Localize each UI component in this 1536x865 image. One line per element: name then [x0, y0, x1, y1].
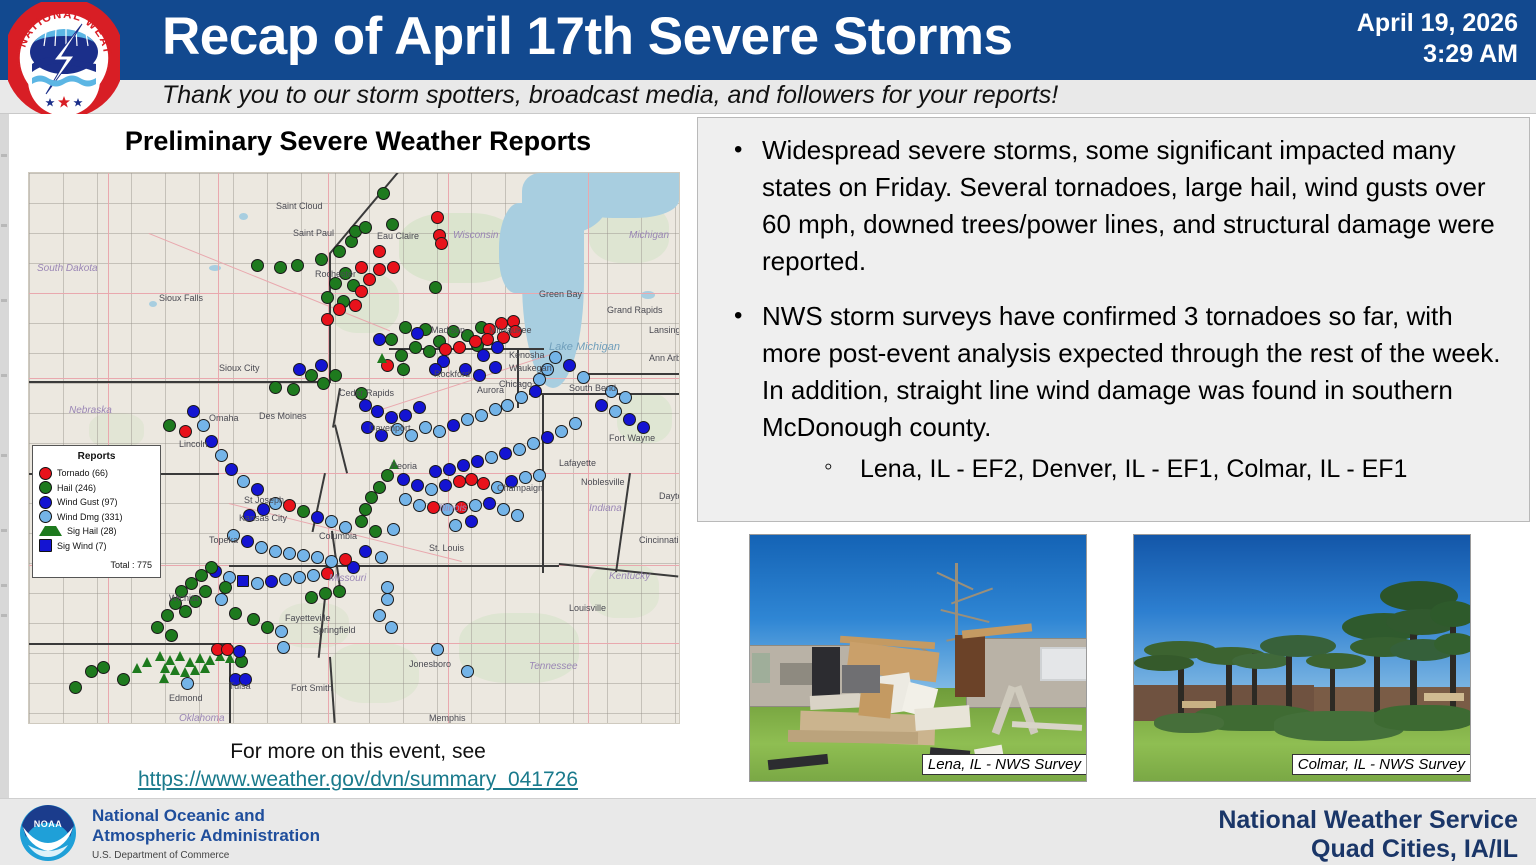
photo-caption: Lena, IL - NWS Survey: [922, 754, 1087, 775]
report-marker-wind-gust: [447, 419, 460, 432]
state-label: Kentucky: [609, 571, 650, 582]
report-marker-tornado: [355, 261, 368, 274]
state-label: Indiana: [589, 503, 622, 514]
city-label: Kansas City: [239, 513, 287, 523]
report-marker-sig-hail: [190, 665, 200, 675]
report-marker-hail: [377, 187, 390, 200]
city-label: Jonesboro: [409, 659, 451, 669]
report-marker-hail: [117, 673, 130, 686]
report-marker-hail: [291, 259, 304, 272]
report-marker-wind-gust: [541, 431, 554, 444]
report-marker-hail: [69, 681, 82, 694]
report-marker-wind-dmg: [569, 417, 582, 430]
state-label: Tennessee: [529, 661, 578, 672]
legend-swatch-circle-icon: [39, 467, 52, 480]
report-marker-wind-gust: [359, 545, 372, 558]
report-marker-tornado: [453, 341, 466, 354]
city-label: Fayetteville: [285, 613, 331, 623]
legend-label: Wind Dmg (331): [57, 512, 123, 522]
report-marker-tornado: [355, 285, 368, 298]
bullet-item: NWS storm surveys have confirmed 3 torna…: [732, 298, 1511, 486]
report-marker-hail: [369, 525, 382, 538]
report-marker-hail: [163, 419, 176, 432]
report-marker-wind-dmg: [485, 451, 498, 464]
report-marker-hail: [315, 253, 328, 266]
report-marker-tornado: [387, 261, 400, 274]
report-marker-hail: [247, 613, 260, 626]
report-marker-wind-dmg: [215, 449, 228, 462]
report-marker-wind-gust: [489, 361, 502, 374]
header-datetime: April 19, 2026 3:29 AM: [1118, 8, 1518, 70]
report-marker-wind-dmg: [433, 425, 446, 438]
report-marker-wind-dmg: [277, 641, 290, 654]
report-marker-wind-dmg: [375, 551, 388, 564]
report-marker-tornado: [477, 477, 490, 490]
report-marker-tornado: [221, 643, 234, 656]
header-date: April 19, 2026: [1118, 8, 1518, 39]
report-marker-wind-dmg: [255, 541, 268, 554]
report-marker-wind-dmg: [497, 503, 510, 516]
city-label: Eau Claire: [377, 231, 419, 241]
subtitle-text: Thank you to our storm spotters, broadca…: [162, 81, 1058, 110]
legend-row: Wind Dmg (331): [39, 510, 154, 525]
city-label: Grand Rapids: [607, 305, 663, 315]
city-label: Omaha: [209, 413, 239, 423]
report-marker-wind-dmg: [387, 523, 400, 536]
office-identifier: National Weather Service Quad Cities, IA…: [1058, 806, 1518, 864]
report-marker-wind-gust: [411, 327, 424, 340]
report-marker-wind-dmg: [527, 437, 540, 450]
city-label: Rochester: [315, 269, 356, 279]
summary-text-box: Widespread severe storms, some significa…: [697, 117, 1530, 522]
map-title: Preliminary Severe Weather Reports: [28, 126, 688, 157]
report-marker-wind-gust: [465, 515, 478, 528]
legend-label: Sig Wind (7): [57, 541, 107, 551]
noaa-line-2: Atmospheric Administration: [92, 826, 320, 846]
city-label: Tulsa: [229, 681, 251, 691]
report-marker-wind-dmg: [269, 545, 282, 558]
noaa-logo-icon: NOAA: [18, 803, 78, 863]
legend-title: Reports: [39, 451, 154, 462]
state-label: South Dakota: [37, 263, 98, 274]
report-marker-sig-hail: [377, 353, 387, 363]
report-marker-wind-gust: [491, 341, 504, 354]
report-marker-hail: [274, 261, 287, 274]
legend-swatch-triangle-icon: [39, 526, 62, 536]
report-marker-wind-dmg: [609, 405, 622, 418]
report-marker-hail: [409, 341, 422, 354]
city-label: Cedar Rapids: [339, 388, 394, 398]
report-marker-wind-dmg: [373, 609, 386, 622]
report-marker-hail: [319, 587, 332, 600]
city-label: Waukegan: [509, 363, 552, 373]
report-marker-wind-dmg: [237, 475, 250, 488]
report-marker-wind-dmg: [513, 443, 526, 456]
report-marker-tornado: [453, 475, 466, 488]
report-marker-wind-dmg: [181, 677, 194, 690]
report-marker-hail: [251, 259, 264, 272]
legend-swatch-circle-icon: [39, 496, 52, 509]
city-label: Fort Smith: [291, 683, 333, 693]
report-marker-hail: [329, 369, 342, 382]
legend-label: Wind Gust (97): [57, 497, 118, 507]
report-marker-hail: [199, 585, 212, 598]
city-label: St Joseph: [244, 495, 284, 505]
report-marker-wind-gust: [411, 479, 424, 492]
legend-swatch-circle-icon: [39, 481, 52, 494]
report-marker-wind-gust: [471, 455, 484, 468]
city-label: Peoria: [391, 461, 417, 471]
map-legend: Reports Tornado (66)Hail (246)Wind Gust …: [32, 445, 161, 578]
report-marker-hail: [321, 291, 334, 304]
city-label: Champaign: [497, 483, 543, 493]
city-label: South Bend: [569, 383, 616, 393]
report-marker-tornado: [349, 299, 362, 312]
report-marker-wind-gust: [473, 369, 486, 382]
report-marker-wind-gust: [563, 359, 576, 372]
bullet-item-text: NWS storm surveys have confirmed 3 torna…: [762, 301, 1501, 442]
report-marker-wind-dmg: [501, 399, 514, 412]
report-marker-hail: [397, 363, 410, 376]
report-marker-wind-gust: [265, 575, 278, 588]
report-marker-wind-dmg: [449, 519, 462, 532]
report-marker-sig-hail: [159, 673, 169, 683]
report-marker-hail: [261, 621, 274, 634]
report-marker-hail: [229, 607, 242, 620]
legend-swatch-square-icon: [39, 539, 52, 552]
report-marker-wind-dmg: [619, 391, 632, 404]
state-label: Missouri: [329, 573, 366, 584]
report-marker-tornado: [439, 343, 452, 356]
report-marker-wind-gust: [595, 399, 608, 412]
report-marker-hail: [305, 591, 318, 604]
city-label: Noblesville: [581, 477, 625, 487]
report-marker-tornado: [435, 237, 448, 250]
report-marker-wind-dmg: [293, 571, 306, 584]
report-marker-wind-gust: [397, 473, 410, 486]
report-marker-hail: [423, 345, 436, 358]
report-marker-wind-dmg: [413, 499, 426, 512]
report-marker-wind-gust: [233, 645, 246, 658]
report-marker-hail: [97, 661, 110, 674]
city-label: Davenport: [369, 423, 411, 433]
city-label: Dayton: [659, 491, 680, 501]
city-label: Ann Arbor: [649, 353, 680, 363]
report-marker-sig-hail: [160, 663, 170, 673]
event-summary-link[interactable]: https://www.weather.gov/dvn/summary_0417…: [138, 768, 578, 791]
report-marker-wind-gust: [373, 333, 386, 346]
legend-total: Total : 775: [39, 560, 154, 570]
city-label: Columbia: [319, 531, 357, 541]
legend-label: Tornado (66): [57, 468, 108, 478]
report-marker-sig-hail: [195, 653, 205, 663]
report-marker-hail: [385, 333, 398, 346]
legend-label: Hail (246): [57, 483, 96, 493]
report-marker-tornado: [373, 245, 386, 258]
page-title: Recap of April 17th Severe Storms: [162, 6, 1012, 67]
report-marker-hail: [179, 605, 192, 618]
report-marker-wind-dmg: [469, 499, 482, 512]
report-marker-sig-hail: [155, 651, 165, 661]
legend-label: Sig Hail (28): [67, 526, 117, 536]
report-marker-hail: [333, 585, 346, 598]
state-label: Michigan: [629, 230, 669, 241]
state-label: Illinois: [439, 503, 467, 514]
city-label: Springfield: [313, 625, 356, 635]
nws-seal-icon: NATIONAL WEATHER SERVICE: [8, 2, 120, 114]
city-label: Sioux City: [219, 363, 260, 373]
photo-colmar-damage[interactable]: Colmar, IL - NWS Survey: [1133, 534, 1471, 782]
report-marker-hail: [395, 349, 408, 362]
legend-rows: Tornado (66)Hail (246)Wind Gust (97)Wind…: [39, 466, 154, 553]
report-marker-wind-gust: [429, 465, 442, 478]
report-marker-wind-gust: [483, 497, 496, 510]
report-marker-wind-dmg: [475, 409, 488, 422]
office-location: Quad Cities, IA/IL: [1058, 835, 1518, 864]
report-marker-sig-hail: [180, 667, 190, 677]
slide-edge-strip: [0, 114, 9, 798]
office-name: National Weather Service: [1058, 806, 1518, 835]
city-label: Lansing: [649, 325, 680, 335]
report-marker-sig-wind: [237, 575, 249, 587]
city-label: Milwaukee: [489, 325, 532, 335]
report-marker-tornado: [363, 273, 376, 286]
report-marker-wind-gust: [443, 463, 456, 476]
report-marker-sig-hail: [132, 663, 142, 673]
report-marker-wind-dmg: [431, 643, 444, 656]
legend-row: Wind Gust (97): [39, 495, 154, 510]
report-marker-wind-dmg: [215, 593, 228, 606]
report-marker-wind-gust: [499, 447, 512, 460]
report-marker-wind-gust: [311, 511, 324, 524]
noaa-logo-text: NOAA: [34, 819, 63, 829]
report-marker-hail: [165, 629, 178, 642]
report-marker-wind-dmg: [425, 483, 438, 496]
sub-bullet-item: Lena, IL - EF2, Denver, IL - EF1, Colmar…: [824, 452, 1511, 486]
city-label: Rockford: [434, 369, 470, 379]
report-marker-hail: [85, 665, 98, 678]
report-marker-wind-dmg: [275, 625, 288, 638]
report-marker-wind-gust: [225, 463, 238, 476]
city-label: Cincinnati: [639, 535, 679, 545]
subtitle-bar: Thank you to our storm spotters, broadca…: [0, 80, 1536, 114]
bullet-list: Widespread severe storms, some significa…: [698, 118, 1529, 486]
report-marker-tornado: [179, 425, 192, 438]
city-label: Madison: [431, 325, 465, 335]
lake-label: Lake Michigan: [549, 341, 620, 353]
report-marker-wind-dmg: [283, 547, 296, 560]
report-marker-wind-dmg: [399, 493, 412, 506]
report-marker-wind-gust: [315, 359, 328, 372]
report-marker-wind-dmg: [251, 577, 264, 590]
photo-caption: Colmar, IL - NWS Survey: [1292, 754, 1471, 775]
report-marker-hail: [151, 621, 164, 634]
header-time: 3:29 AM: [1118, 39, 1518, 70]
legend-row: Sig Wind (7): [39, 539, 154, 554]
report-marker-wind-gust: [457, 459, 470, 472]
report-marker-hail: [161, 609, 174, 622]
report-marker-wind-dmg: [279, 573, 292, 586]
report-marker-hail: [297, 505, 310, 518]
city-label: Saint Paul: [293, 228, 334, 238]
report-marker-wind-dmg: [461, 413, 474, 426]
report-marker-wind-gust: [477, 349, 490, 362]
city-label: Wichita: [169, 593, 199, 603]
report-marker-sig-hail: [200, 663, 210, 673]
report-marker-wind-dmg: [533, 469, 546, 482]
photo-lena-damage[interactable]: Lena, IL - NWS Survey: [749, 534, 1087, 782]
legend-row: Sig Hail (28): [39, 524, 154, 539]
sub-bullet-list: Lena, IL - EF2, Denver, IL - EF1, Colmar…: [762, 446, 1511, 486]
city-label: Louisville: [569, 603, 606, 613]
more-info-block: For more on this event, see https://www.…: [28, 738, 688, 794]
report-marker-wind-gust: [187, 405, 200, 418]
city-label: Sioux Falls: [159, 293, 203, 303]
report-marker-hail: [333, 245, 346, 258]
city-label: Topeka: [209, 535, 238, 545]
city-label: Lincoln: [179, 439, 208, 449]
report-marker-hail: [269, 381, 282, 394]
report-marker-wind-dmg: [307, 569, 320, 582]
page-footer: NOAA National Oceanic and Atmospheric Ad…: [0, 798, 1536, 865]
city-label: Memphis: [429, 713, 466, 723]
report-marker-tornado: [339, 553, 352, 566]
state-label: Nebraska: [69, 405, 112, 416]
report-marker-wind-gust: [241, 535, 254, 548]
report-marker-wind-dmg: [511, 509, 524, 522]
report-marker-wind-gust: [399, 409, 412, 422]
report-marker-hail: [205, 561, 218, 574]
report-marker-wind-gust: [371, 405, 384, 418]
report-marker-tornado: [469, 335, 482, 348]
noaa-wordmark: National Oceanic and Atmospheric Adminis…: [92, 806, 320, 861]
report-marker-wind-gust: [413, 401, 426, 414]
page-header: Recap of April 17th Severe Storms April …: [0, 0, 1536, 80]
city-label: Lafayette: [559, 458, 596, 468]
legend-swatch-circle-icon: [39, 510, 52, 523]
report-marker-wind-dmg: [461, 665, 474, 678]
report-marker-wind-dmg: [555, 425, 568, 438]
report-marker-hail: [287, 383, 300, 396]
city-label: Green Bay: [539, 289, 582, 299]
city-label: Kenosha: [509, 350, 545, 360]
report-marker-sig-hail: [170, 665, 180, 675]
report-marker-wind-dmg: [515, 391, 528, 404]
legend-row: Tornado (66): [39, 466, 154, 481]
report-marker-hail: [355, 515, 368, 528]
report-marker-wind-dmg: [419, 421, 432, 434]
report-marker-wind-gust: [439, 479, 452, 492]
report-marker-tornado: [321, 313, 334, 326]
state-label: Oklahoma: [179, 713, 225, 724]
report-marker-hail: [429, 281, 442, 294]
report-marker-tornado: [373, 263, 386, 276]
city-label: St. Louis: [429, 543, 464, 553]
legend-row: Hail (246): [39, 481, 154, 496]
report-marker-tornado: [333, 303, 346, 316]
city-label: Des Moines: [259, 411, 307, 421]
report-marker-hail: [305, 369, 318, 382]
noaa-subtext: U.S. Department of Commerce: [92, 850, 320, 861]
report-marker-wind-gust: [623, 413, 636, 426]
report-marker-wind-dmg: [385, 621, 398, 634]
report-marker-hail: [365, 491, 378, 504]
report-marker-tornado: [283, 499, 296, 512]
report-marker-sig-hail: [142, 657, 152, 667]
state-label: Wisconsin: [453, 230, 498, 241]
city-label: Fort Wayne: [609, 433, 655, 443]
report-marker-hail: [317, 377, 330, 390]
report-marker-wind-dmg: [311, 551, 324, 564]
city-label: Edmond: [169, 693, 203, 703]
report-marker-wind-gust: [293, 363, 306, 376]
report-marker-wind-dmg: [297, 549, 310, 562]
report-marker-wind-dmg: [325, 515, 338, 528]
report-marker-hail: [359, 221, 372, 234]
city-label: Saint Cloud: [276, 201, 323, 211]
city-label: Aurora: [477, 385, 504, 395]
report-marker-tornado: [431, 211, 444, 224]
bullet-item: Widespread severe storms, some significa…: [732, 132, 1511, 280]
report-marker-hail: [386, 218, 399, 231]
more-info-lead: For more on this event, see: [28, 738, 688, 766]
report-marker-wind-dmg: [381, 593, 394, 606]
noaa-line-1: National Oceanic and: [92, 806, 320, 826]
report-marker-sig-hail: [175, 651, 185, 661]
